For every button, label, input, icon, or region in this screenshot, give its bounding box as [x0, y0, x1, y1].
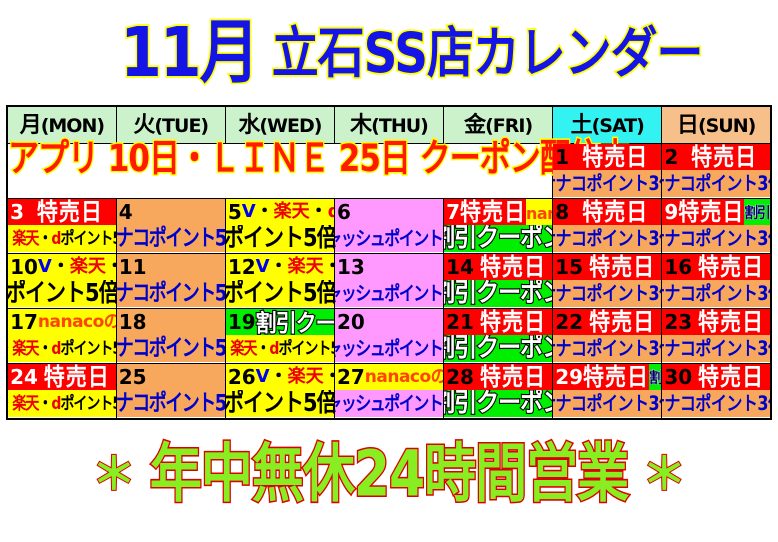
tokubai-label: 特売日	[460, 200, 526, 224]
day-bottom-band: ナナコポイント3倍	[553, 335, 661, 362]
header-thu-kanji: 木	[350, 113, 371, 138]
day-bottom-band: 割引クーポン	[444, 335, 552, 362]
header-wed-kanji: 水	[238, 113, 259, 138]
day-bottom-band: V・楽天・dポイント5倍	[226, 335, 334, 362]
day-number: 6	[335, 202, 351, 222]
day-cell-5[interactable]: 5V・楽天・dポイント5倍	[225, 199, 334, 254]
calendar-week-row: 17nanacoの日V・楽天・dポイント5倍18ナナコポイント5倍19割引クーポ…	[7, 309, 771, 364]
vrd-v: V	[256, 256, 270, 277]
header-thu-en: (THU)	[371, 115, 428, 137]
point5-text: ポイント5倍	[60, 229, 115, 248]
day-bottom-band: キャッシュポイント5倍	[335, 390, 443, 417]
tokubai-label: 特売日	[678, 200, 744, 224]
promo-banner-cell: アプリ 10日・ＬＩＮＥ 25日 クーポン配信中	[7, 144, 553, 199]
day-cell-6[interactable]: 6キャッシュポイント5倍	[334, 199, 443, 254]
day-number: 15	[553, 257, 583, 277]
day-cell-17[interactable]: 17nanacoの日V・楽天・dポイント5倍	[7, 309, 116, 364]
vrd-rakuten: 楽天	[12, 339, 38, 358]
day-number: 16	[662, 257, 692, 277]
title-store-name: 立石SS店カレンダー	[271, 25, 702, 80]
day-cell-20[interactable]: 20キャッシュポイント5倍	[334, 309, 443, 364]
day-cell-4[interactable]: 4ナナコポイント5倍	[116, 199, 225, 254]
day-number: 28	[444, 367, 474, 387]
tokubai-label: 特売日	[583, 255, 661, 279]
day-top-band: 15特売日	[553, 254, 661, 280]
tokubai-label: 特売日	[692, 310, 770, 334]
day-top-band: 12V・楽天・d	[226, 254, 334, 280]
coupon-label: 割引クーポン	[256, 309, 334, 335]
nanaco-point3-label: ナナコポイント3倍	[662, 284, 770, 303]
day-cell-10[interactable]: 10V・楽天・dポイント5倍	[7, 254, 116, 309]
day-top-band: 21特売日	[444, 309, 552, 335]
header-tue-kanji: 火	[133, 113, 154, 138]
tokubai-label: 特売日	[38, 365, 116, 389]
coupon-tag: 割引クーポン	[649, 364, 661, 390]
day-bottom-band: ポイント5倍	[226, 280, 334, 307]
nanaco-day-label: nanacoの日	[526, 199, 552, 225]
day-number: 30	[662, 367, 692, 387]
day-number: 27	[335, 367, 365, 387]
day-number: 22	[553, 312, 583, 332]
day-top-band: 6	[335, 199, 443, 225]
header-sun-en: (SUN)	[698, 115, 755, 137]
coupon-label: 割引クーポン	[444, 391, 552, 417]
day-top-band: 4	[117, 199, 225, 225]
day-bottom-band: ナナコポイント3倍	[662, 390, 770, 417]
vrd-point5-small-label: V・楽天・dポイント5倍	[8, 395, 116, 412]
day-number: 8	[553, 202, 569, 222]
day-cell-2[interactable]: 2特売日ナナコポイント3倍	[662, 144, 771, 199]
day-cell-19[interactable]: 19割引クーポンV・楽天・dポイント5倍	[225, 309, 334, 364]
day-top-band: 17nanacoの日	[8, 309, 116, 335]
star-right-icon: ＊	[642, 453, 686, 497]
day-number: 29	[553, 367, 583, 387]
vrd-d: d	[51, 229, 60, 248]
tokubai-label: 特売日	[692, 365, 770, 389]
nanaco-point3-label: ナナコポイント3倍	[553, 339, 661, 358]
day-number: 11	[117, 257, 147, 277]
nanaco-point3-label: ナナコポイント3倍	[662, 339, 770, 358]
day-top-band: 3特売日	[8, 199, 116, 225]
day-bottom-band: ナナコポイント3倍	[553, 170, 661, 197]
title-month: 11月	[120, 18, 258, 87]
vrd-d: d	[51, 339, 60, 358]
day-bottom-band: ナナコポイント5倍	[117, 225, 225, 252]
day-top-band: 18	[117, 309, 225, 335]
footer-banner: ＊ 年中無休24時間営業 ＊	[0, 420, 778, 530]
day-bottom-band: キャッシュポイント5倍	[335, 225, 443, 252]
day-top-band: 2特売日	[662, 144, 770, 170]
day-top-band: 19割引クーポン	[226, 309, 334, 335]
day-top-band: 9特売日割引クーポン	[662, 199, 770, 225]
tokubai-label: 特売日	[569, 200, 661, 224]
calendar-body: アプリ 10日・ＬＩＮＥ 25日 クーポン配信中1特売日ナナコポイント3倍2特売…	[7, 144, 771, 420]
vrd-sep: ・	[38, 339, 51, 358]
calendar-week-row: 3特売日V・楽天・dポイント5倍4ナナコポイント5倍5V・楽天・dポイント5倍6…	[7, 199, 771, 254]
day-top-band: 24特売日	[8, 364, 116, 390]
vrd-rakuten: 楽天	[12, 394, 38, 413]
day-number: 12	[226, 257, 256, 277]
day-number: 3	[8, 202, 24, 222]
point5-label: ポイント5倍	[8, 281, 116, 306]
vrd-sep: ・	[38, 229, 51, 248]
nanaco-point3-label: ナナコポイント3倍	[553, 394, 661, 413]
cash-point5-label: キャッシュポイント5倍	[335, 339, 443, 358]
calendar-table: 月(MON) 火(TUE) 水(WED) 木(THU) 金(FRI) 土(SAT…	[6, 105, 772, 420]
vrd-rakuten: 楽天	[274, 201, 310, 222]
vrd-sep: ・	[310, 201, 328, 222]
vrd-point5-small-label: V・楽天・dポイント5倍	[8, 340, 116, 357]
header-fri-en: (FRI)	[485, 115, 532, 137]
day-bottom-band: キャッシュポイント5倍	[335, 280, 443, 307]
day-number: 19	[226, 312, 256, 332]
header-sun-kanji: 日	[677, 113, 698, 138]
vrd-rakuten: 楽天	[288, 366, 324, 387]
day-cell-16[interactable]: 16特売日ナナコポイント3倍	[662, 254, 771, 309]
nanaco-point3-label: ナナコポイント3倍	[553, 284, 661, 303]
day-top-band: 14特売日	[444, 254, 552, 280]
day-top-band: 25	[117, 364, 225, 390]
day-bottom-band: 割引クーポン	[444, 390, 552, 417]
day-cell-14[interactable]: 14特売日割引クーポン	[444, 254, 553, 309]
tokubai-label: 特売日	[24, 200, 116, 224]
day-top-band: 28特売日	[444, 364, 552, 390]
day-number: 20	[335, 312, 365, 332]
day-bottom-band: ナナコポイント3倍	[662, 280, 770, 307]
day-top-band: 10V・楽天・d	[8, 254, 116, 280]
day-top-band: 26V・楽天・d	[226, 364, 334, 390]
day-top-band: 1特売日	[553, 144, 661, 170]
day-number: 13	[335, 257, 365, 277]
vrd-v: V	[256, 366, 270, 387]
day-bottom-band: ナナコポイント5倍	[117, 335, 225, 362]
day-cell-22[interactable]: 22特売日ナナコポイント3倍	[553, 309, 662, 364]
tokubai-label: 特売日	[474, 255, 552, 279]
day-number: 1	[553, 147, 569, 167]
day-cell-1[interactable]: 1特売日ナナコポイント3倍	[553, 144, 662, 199]
day-top-band: 13	[335, 254, 443, 280]
day-bottom-band: ナナコポイント3倍	[553, 280, 661, 307]
tokubai-label: 特売日	[569, 145, 661, 169]
point5-label: ポイント5倍	[226, 281, 334, 306]
day-cell-27[interactable]: 27nanacoの日キャッシュポイント5倍	[334, 364, 443, 420]
day-number: 23	[662, 312, 692, 332]
day-number: 14	[444, 257, 474, 277]
page-title: 11月 立石SS店カレンダー	[0, 0, 778, 105]
tokubai-label: 特売日	[692, 255, 770, 279]
vrd-header-label: V・楽天・d	[256, 368, 334, 386]
day-bottom-band: ポイント5倍	[226, 225, 334, 252]
vrd-sep: ・	[256, 339, 269, 358]
cash-point5-label: キャッシュポイント5倍	[335, 284, 443, 303]
calendar-week-row: アプリ 10日・ＬＩＮＥ 25日 クーポン配信中1特売日ナナコポイント3倍2特売…	[7, 144, 771, 199]
star-left-icon: ＊	[92, 453, 136, 497]
vrd-rakuten: 楽天	[12, 229, 38, 248]
day-number: 5	[226, 202, 242, 222]
vrd-d: d	[51, 394, 60, 413]
day-number: 17	[8, 312, 38, 332]
day-top-band: 16特売日	[662, 254, 770, 280]
header-mon-kanji: 月	[20, 113, 41, 138]
header-mon-en: (MON)	[41, 115, 104, 137]
header-sat-en: (SAT)	[592, 115, 644, 137]
day-cell-29[interactable]: 29特売日割引クーポンナナコポイント3倍	[553, 364, 662, 420]
point5-label: ポイント5倍	[226, 391, 334, 416]
vrd-d: d	[328, 201, 334, 222]
header-fri-kanji: 金	[464, 113, 485, 138]
nanaco-point3-label: ナナコポイント3倍	[553, 174, 661, 193]
day-bottom-band: ナナコポイント3倍	[662, 170, 770, 197]
day-cell-3[interactable]: 3特売日V・楽天・dポイント5倍	[7, 199, 116, 254]
day-bottom-band: ポイント5倍	[226, 390, 334, 417]
day-number: 25	[117, 367, 147, 387]
day-number: 26	[226, 367, 256, 387]
day-bottom-band: キャッシュポイント5倍	[335, 335, 443, 362]
coupon-tag: 割引クーポン	[744, 199, 770, 225]
day-cell-21[interactable]: 21特売日割引クーポン	[444, 309, 553, 364]
day-bottom-band: V・楽天・dポイント5倍	[8, 335, 116, 362]
vrd-header-label: V・楽天・d	[38, 258, 116, 276]
day-top-band: 22特売日	[553, 309, 661, 335]
day-cell-23[interactable]: 23特売日ナナコポイント3倍	[662, 309, 771, 364]
tokubai-label: 特売日	[678, 145, 770, 169]
coupon-label: 割引クーポン	[444, 281, 552, 307]
header-tue-en: (TUE)	[154, 115, 208, 137]
day-cell-24[interactable]: 24特売日V・楽天・dポイント5倍	[7, 364, 116, 420]
vrd-v: V	[38, 256, 52, 277]
day-cell-7[interactable]: 7特売日nanacoの日割引クーポン	[444, 199, 553, 254]
calendar-week-row: 10V・楽天・dポイント5倍11ナナコポイント5倍12V・楽天・dポイント5倍1…	[7, 254, 771, 309]
day-cell-18[interactable]: 18ナナコポイント5倍	[116, 309, 225, 364]
day-bottom-band: V・楽天・dポイント5倍	[8, 225, 116, 252]
vrd-sep: ・	[52, 256, 70, 277]
day-cell-28[interactable]: 28特売日割引クーポン	[444, 364, 553, 420]
day-cell-26[interactable]: 26V・楽天・dポイント5倍	[225, 364, 334, 420]
day-bottom-band: ポイント5倍	[8, 280, 116, 307]
nanaco-point5-label: ナナコポイント5倍	[117, 282, 225, 305]
day-top-band: 8特売日	[553, 199, 661, 225]
nanaco-point3-label: ナナコポイント3倍	[662, 174, 770, 193]
day-cell-30[interactable]: 30特売日ナナコポイント3倍	[662, 364, 771, 420]
calendar-week-row: 24特売日V・楽天・dポイント5倍25ナナコポイント5倍26V・楽天・dポイント…	[7, 364, 771, 420]
cash-point5-label: キャッシュポイント5倍	[335, 229, 443, 248]
vrd-d: d	[269, 339, 278, 358]
nanaco-point3-label: ナナコポイント3倍	[662, 229, 770, 248]
coupon-label: 割引クーポン	[444, 336, 552, 362]
day-cell-12[interactable]: 12V・楽天・dポイント5倍	[225, 254, 334, 309]
point5-text: ポイント5倍	[60, 394, 115, 413]
day-cell-11[interactable]: 11ナナコポイント5倍	[116, 254, 225, 309]
day-number: 18	[117, 312, 147, 332]
day-bottom-band: ナナコポイント3倍	[553, 390, 661, 417]
vrd-sep: ・	[324, 366, 334, 387]
vrd-rakuten: 楽天	[70, 256, 106, 277]
day-bottom-band: ナナコポイント5倍	[117, 280, 225, 307]
nanaco-point5-label: ナナコポイント5倍	[117, 227, 225, 250]
header-wed-en: (WED)	[259, 115, 321, 137]
tokubai-label: 特売日	[474, 310, 552, 334]
coupon-label: 割引クーポン	[444, 226, 552, 252]
day-cell-8[interactable]: 8特売日ナナコポイント3倍	[553, 199, 662, 254]
nanaco-point5-label: ナナコポイント5倍	[117, 392, 225, 415]
day-top-band: 11	[117, 254, 225, 280]
day-bottom-band: ナナコポイント3倍	[553, 225, 661, 252]
day-number: 7	[444, 202, 460, 222]
point5-label: ポイント5倍	[226, 226, 334, 251]
day-number: 24	[8, 367, 38, 387]
day-top-band: 5V・楽天・d	[226, 199, 334, 225]
nanaco-point3-label: ナナコポイント3倍	[553, 229, 661, 248]
vrd-header-label: V・楽天・d	[256, 258, 334, 276]
day-bottom-band: V・楽天・dポイント5倍	[8, 390, 116, 417]
day-number: 4	[117, 202, 133, 222]
promo-banner-text: アプリ 10日・ＬＩＮＥ 25日 クーポン配信中	[8, 141, 630, 179]
nanaco-point3-label: ナナコポイント3倍	[662, 394, 770, 413]
day-top-band: 27nanacoの日	[335, 364, 443, 390]
day-top-band: 23特売日	[662, 309, 770, 335]
day-number: 21	[444, 312, 474, 332]
nanaco-day-label: nanacoの日	[38, 314, 116, 331]
vrd-rakuten: 楽天	[288, 256, 324, 277]
day-bottom-band: ナナコポイント3倍	[662, 225, 770, 252]
vrd-point5-small-label: V・楽天・dポイント5倍	[8, 230, 116, 247]
day-bottom-band: ナナコポイント3倍	[662, 335, 770, 362]
day-number: 9	[662, 202, 678, 222]
header-sat-kanji: 土	[571, 113, 592, 138]
tokubai-label: 特売日	[583, 310, 661, 334]
day-bottom-band: 割引クーポン	[444, 225, 552, 252]
cash-point5-label: キャッシュポイント5倍	[335, 394, 443, 413]
nanaco-day-label: nanacoの日	[365, 369, 443, 386]
vrd-sep: ・	[106, 256, 116, 277]
day-top-band: 7特売日nanacoの日	[444, 199, 552, 225]
vrd-sep: ・	[270, 256, 288, 277]
day-number: 10	[8, 257, 38, 277]
vrd-sep: ・	[38, 394, 51, 413]
day-top-band: 20	[335, 309, 443, 335]
point5-text: ポイント5倍	[278, 339, 334, 358]
vrd-point5-small-label: V・楽天・dポイント5倍	[226, 340, 334, 357]
header-sun: 日(SUN)	[662, 106, 771, 144]
vrd-v: V	[242, 201, 256, 222]
tokubai-label: 特売日	[474, 365, 552, 389]
vrd-rakuten: 楽天	[230, 339, 256, 358]
vrd-sep: ・	[324, 256, 334, 277]
vrd-sep: ・	[270, 366, 288, 387]
footer-text: 年中無休24時間営業	[150, 443, 628, 506]
day-cell-15[interactable]: 15特売日ナナコポイント3倍	[553, 254, 662, 309]
vrd-header-label: V・楽天・d	[242, 203, 334, 221]
day-number: 2	[662, 147, 678, 167]
day-bottom-band: ナナコポイント5倍	[117, 390, 225, 417]
nanaco-point5-label: ナナコポイント5倍	[117, 337, 225, 360]
day-cell-25[interactable]: 25ナナコポイント5倍	[116, 364, 225, 420]
day-top-band: 29特売日割引クーポン	[553, 364, 661, 390]
tokubai-label: 特売日	[583, 365, 649, 389]
day-cell-9[interactable]: 9特売日割引クーポンナナコポイント3倍	[662, 199, 771, 254]
day-top-band: 30特売日	[662, 364, 770, 390]
day-bottom-band: 割引クーポン	[444, 280, 552, 307]
vrd-sep: ・	[256, 201, 274, 222]
day-cell-13[interactable]: 13キャッシュポイント5倍	[334, 254, 443, 309]
point5-text: ポイント5倍	[60, 339, 115, 358]
